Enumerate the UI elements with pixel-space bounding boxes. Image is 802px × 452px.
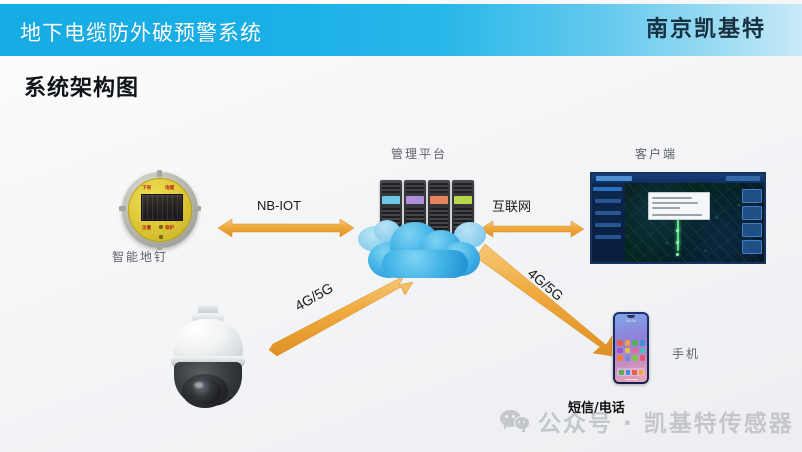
link-label-4g5g-camera: 4G/5G <box>292 279 336 313</box>
wechat-icon <box>500 410 530 432</box>
slide-canvas: 地下电缆防外破预警系统 南京凯基特 系统架构图 NB-IOT <box>0 0 802 452</box>
smart-nail-center-dot <box>159 225 163 229</box>
client-map-track <box>677 219 679 251</box>
client-sidebar-item-2 <box>595 199 621 203</box>
node-phone: 10:24 <box>613 312 649 384</box>
arrow-nb-iot <box>218 219 354 237</box>
header-brand: 南京凯基特 <box>646 11 766 43</box>
phone-app-icon-4 <box>640 340 646 346</box>
smart-nail-lower-dot <box>159 235 163 239</box>
link-label-nb-iot: NB-IOT <box>257 198 301 213</box>
page-title: 系统架构图 <box>24 70 139 102</box>
phone-app-icon-6 <box>625 348 631 354</box>
phone-home-bar <box>625 379 637 381</box>
smart-nail-solar-panel <box>141 194 183 221</box>
smart-nail-text-top-right: 电缆 <box>165 185 174 191</box>
arrow-internet <box>480 221 584 237</box>
client-map-node-4 <box>676 229 679 232</box>
smart-nail-text-bottom-left: 注意 <box>142 225 151 231</box>
node-management-platform <box>358 176 486 284</box>
phone-app-icon-7 <box>632 348 638 354</box>
smart-nail-text-bottom-right: 保护 <box>165 225 174 231</box>
phone-dock-icon-2 <box>626 370 631 375</box>
node-camera <box>168 306 248 406</box>
smart-nail-face: 下有 电缆 注意 保护 <box>128 178 192 242</box>
phone-app-icon-8 <box>640 348 646 354</box>
client-sidebar-item-4 <box>595 223 621 227</box>
node-label-phone: 手机 <box>672 345 700 362</box>
smart-nail-notch-top <box>157 170 162 177</box>
client-right-panel-4 <box>742 240 762 254</box>
client-right-panel-3 <box>742 223 762 237</box>
phone-frame: 10:24 <box>613 312 649 384</box>
node-label-management-platform: 管理平台 <box>391 145 447 162</box>
client-logo <box>596 176 632 181</box>
link-label-internet: 互联网 <box>492 196 531 215</box>
client-map-node-5 <box>676 241 679 244</box>
client-screen <box>590 172 766 264</box>
phone-status-time: 10:24 <box>626 318 636 323</box>
smart-nail-text-top-left: 下有 <box>142 185 151 191</box>
phone-app-icon-9 <box>617 355 623 361</box>
phone-app-icon-5 <box>617 348 623 354</box>
cloud-main <box>368 220 480 278</box>
client-topbar <box>592 174 764 183</box>
phone-screen: 10:24 <box>615 314 647 382</box>
client-sidebar-item-5 <box>595 235 621 239</box>
watermark-text: 公众号 · 凯基特传感器 <box>538 404 794 438</box>
phone-dock-icon-1 <box>619 370 624 375</box>
watermark: 公众号 · 凯基特传感器 <box>500 404 794 438</box>
smart-nail-notch-left <box>119 206 126 211</box>
client-map-node-6 <box>676 253 679 256</box>
client-right-panel-2 <box>742 206 762 220</box>
phone-dock-icon-4 <box>639 370 644 375</box>
client-right-panel-1 <box>742 189 762 203</box>
phone-dock-icon-3 <box>632 370 637 375</box>
node-label-client: 客户端 <box>635 145 677 162</box>
client-sidebar-item-3 <box>595 211 621 215</box>
phone-app-icon-10 <box>625 355 631 361</box>
client-sidebar-item-1 <box>593 187 622 191</box>
node-smart-nail: 下有 电缆 注意 保护 <box>118 170 202 250</box>
client-info-popup <box>648 192 710 220</box>
phone-app-icon-1 <box>617 340 623 346</box>
arrow-4g5g-camera <box>269 276 413 356</box>
header-title: 地下电缆防外破预警系统 <box>20 17 262 47</box>
phone-app-icon-2 <box>625 340 631 346</box>
phone-app-icon-3 <box>632 340 638 346</box>
phone-dock <box>617 368 645 376</box>
phone-app-icon-12 <box>640 355 646 361</box>
node-label-smart-nail: 智能地钉 <box>112 248 168 265</box>
phone-app-grid <box>617 340 645 361</box>
client-topbar-right <box>726 176 760 181</box>
phone-app-icon-11 <box>632 355 638 361</box>
smart-nail-notch-right <box>194 206 201 211</box>
client-sidebar <box>592 183 625 262</box>
camera-lens-glint <box>194 382 203 388</box>
node-client <box>590 172 766 266</box>
link-label-4g5g-phone: 4G/5G <box>525 265 567 304</box>
